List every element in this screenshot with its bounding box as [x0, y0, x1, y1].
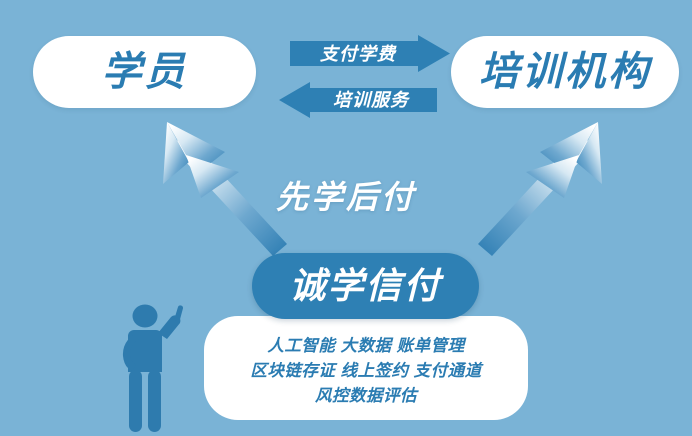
pay-tuition-arrow-label: 支付学费 — [320, 45, 396, 63]
feature-line: 风控数据评估 — [315, 384, 417, 409]
training-service-arrow: 培训服务 — [279, 82, 437, 118]
pay-tuition-arrow: 支付学费 — [290, 35, 450, 72]
slogan-text: 先学后付 — [0, 172, 692, 218]
feature-panel: 人工智能 大数据 账单管理 区块链存证 线上签约 支付通道 风控数据评估 — [204, 316, 528, 420]
infographic-canvas: 学员 培训机构 支付学费 培训服务 先学后付 人工智能 大数 — [0, 0, 692, 436]
student-node-label: 学员 — [102, 52, 188, 92]
organization-node-label: 培训机构 — [479, 52, 651, 92]
training-service-arrow-label: 培训服务 — [333, 91, 409, 109]
feature-line: 区块链存证 线上签约 支付通道 — [250, 359, 481, 384]
feature-line: 人工智能 大数据 账单管理 — [267, 334, 464, 359]
student-node[interactable]: 学员 — [33, 36, 256, 108]
person-raising-hand-icon — [118, 303, 196, 436]
center-node-label: 诚学信付 — [289, 268, 441, 304]
organization-node[interactable]: 培训机构 — [451, 36, 679, 108]
center-node[interactable]: 诚学信付 — [252, 253, 479, 319]
